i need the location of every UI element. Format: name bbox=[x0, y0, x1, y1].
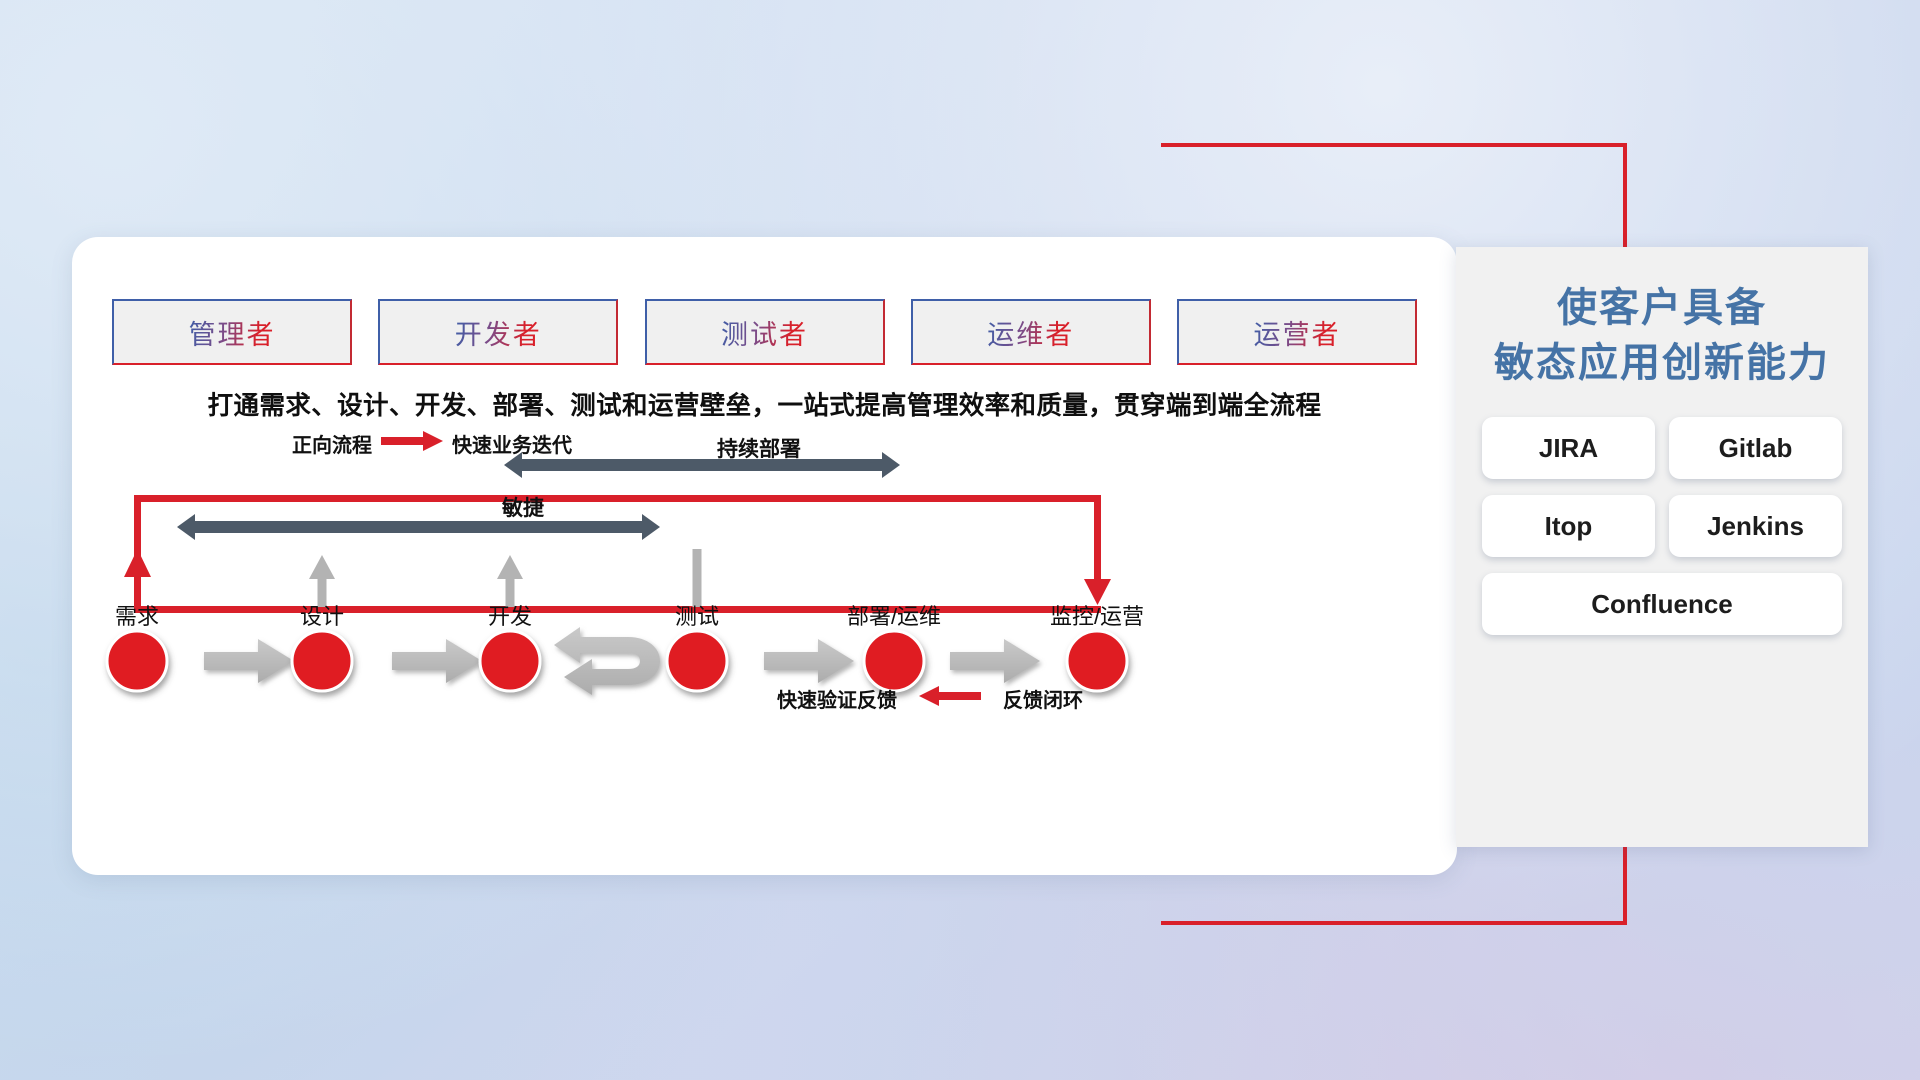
slide-canvas: 管理者 开发者 测试者 运维者 运营者 打通需求、设计、开发、部署、测试和运营壁… bbox=[0, 0, 1920, 1080]
agile-arrow bbox=[177, 514, 660, 540]
pipeline-svg bbox=[72, 237, 1457, 875]
pipeline-node-label-requirement: 需求 bbox=[115, 599, 159, 631]
red-feedback-loop bbox=[124, 495, 1111, 613]
tool-pill-grid: JIRA Gitlab Itop Jenkins Confluence bbox=[1482, 417, 1842, 635]
flow-caption-agile: 敏捷 bbox=[502, 492, 544, 522]
devops-pipeline-diagram: 持续部署 敏捷 需求 设计 开发 测试 部署/运维 监控/运营 bbox=[72, 237, 1457, 875]
stage-block-arrow-3 bbox=[764, 639, 854, 683]
pipeline-node-label-deploy-ops: 部署/运维 bbox=[847, 599, 941, 631]
pipeline-node-label-design: 设计 bbox=[300, 599, 344, 631]
flow-caption-continuous-deployment: 持续部署 bbox=[717, 433, 801, 463]
legend-feedback-right-label: 反馈闭环 bbox=[1003, 684, 1083, 713]
rework-loop-arrow bbox=[554, 627, 660, 695]
tool-pill-confluence[interactable]: Confluence bbox=[1482, 573, 1842, 635]
stage-block-arrow-1 bbox=[204, 639, 294, 683]
tool-pill-jira[interactable]: JIRA bbox=[1482, 417, 1655, 479]
pipeline-node-label-monitor-run: 监控/运营 bbox=[1050, 599, 1144, 631]
pipeline-node-label-test: 测试 bbox=[675, 599, 719, 631]
main-content-card: 管理者 开发者 测试者 运维者 运营者 打通需求、设计、开发、部署、测试和运营壁… bbox=[72, 237, 1457, 875]
tool-pill-jenkins[interactable]: Jenkins bbox=[1669, 495, 1842, 557]
stage-block-arrow-4 bbox=[950, 639, 1040, 683]
pipeline-node-label-develop: 开发 bbox=[488, 599, 532, 631]
outcome-panel-title-line1: 使客户具备 bbox=[1482, 281, 1842, 336]
outcome-panel-title-line2: 敏态应用创新能力 bbox=[1482, 336, 1842, 391]
tool-pill-itop[interactable]: Itop bbox=[1482, 495, 1655, 557]
requirement-uplink bbox=[134, 537, 141, 607]
tool-pill-gitlab[interactable]: Gitlab bbox=[1669, 417, 1842, 479]
stage-block-arrow-2 bbox=[392, 639, 482, 683]
legend-feedback-left-label: 快速验证反馈 bbox=[777, 684, 897, 713]
red-arrow-left-icon bbox=[919, 686, 981, 712]
outcome-panel: 使客户具备 敏态应用创新能力 JIRA Gitlab Itop Jenkins … bbox=[1456, 247, 1868, 847]
legend-feedback-loop: 快速验证反馈 反馈闭环 bbox=[777, 684, 1083, 713]
continuous-deployment-arrow bbox=[504, 452, 900, 478]
